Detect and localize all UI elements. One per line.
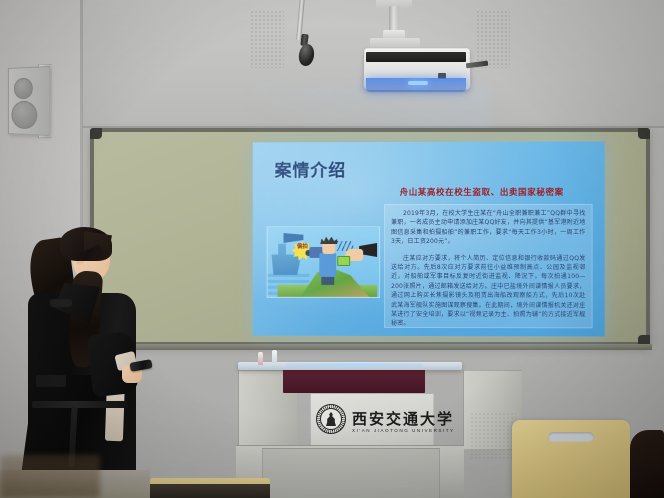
upper-wall <box>0 0 664 128</box>
slide-text-panel: 2019年3月，在校大学生庄某在“舟山全职兼职兼工”QQ群中寻找兼职，一名成员主… <box>384 204 593 328</box>
wall-grille-panel <box>470 412 516 460</box>
board-corner <box>90 128 102 139</box>
projected-slide: 案情介绍 舟山某高校在校生盗取、出卖国家秘密案 偏拍 2019年3月，在校大学生… <box>253 142 605 337</box>
classroom-photo-scene: 案情介绍 舟山某高校在校生盗取、出卖国家秘密案 偏拍 2019年3月，在校大学生… <box>0 0 664 498</box>
presenter-belt <box>32 401 128 408</box>
student-desk-edge <box>150 484 270 498</box>
slide-illustration: 偏拍 <box>267 226 380 298</box>
projector-vent <box>366 52 466 62</box>
seated-person-hair <box>630 430 664 498</box>
speaker-tweeter-icon <box>14 78 33 100</box>
presenter-shoulder-tab <box>50 299 72 307</box>
podium-screen-glow <box>286 363 422 367</box>
podium-base-front <box>262 448 440 498</box>
podium-right-speaker-grille <box>476 10 510 68</box>
illustration-person-body <box>319 253 336 277</box>
university-name-en: XI'AN JIAOTONG UNIVERSITY <box>352 428 455 433</box>
foreground-blur <box>0 455 100 498</box>
slide-paragraph: 2019年3月，在校大学生庄某在“舟山全职兼职兼工”QQ群中寻找兼职，一名成员主… <box>391 209 586 247</box>
ship-flag-icon <box>284 233 304 243</box>
money-icon <box>337 256 350 266</box>
wall-speaker <box>8 66 50 136</box>
podium-item-marker <box>272 350 277 363</box>
university-name-cn: 西安交通大学 <box>352 408 454 429</box>
whiteboard-marker-tray <box>88 344 652 350</box>
presenter-coat-pocket <box>36 375 66 387</box>
slide-subtitle: 舟山某高校在校生盗取、出卖国家秘密案 <box>364 186 600 198</box>
projector-led-icon <box>408 81 428 85</box>
podium-left-speaker-grille <box>250 10 284 68</box>
illustration-person-hair <box>320 236 337 244</box>
slide-title: 案情介绍 <box>275 156 347 181</box>
podium-top-panel <box>283 368 425 393</box>
chair-handle-slot <box>548 432 594 442</box>
slide-paragraph: 庄某应对方要求，将个人简历、定位信息和银行收款码通过QQ发送给对方。先后8次应对… <box>391 254 586 330</box>
board-corner <box>638 128 650 139</box>
speaker-woofer-icon <box>11 101 37 129</box>
podium-item-bottle <box>258 352 263 365</box>
